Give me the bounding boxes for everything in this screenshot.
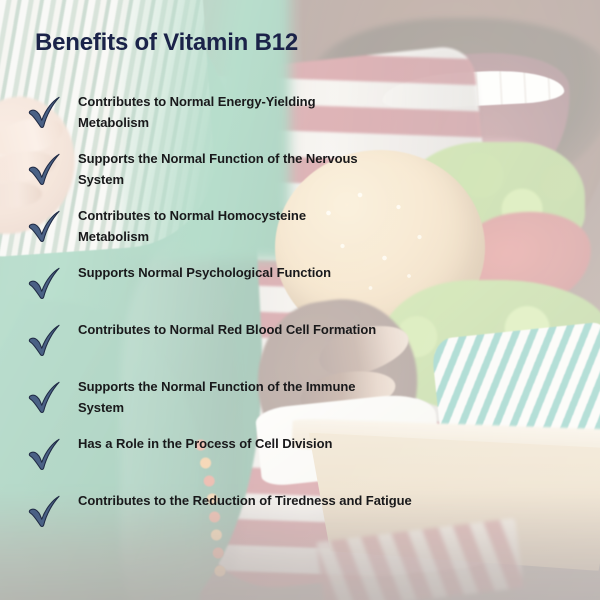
checkmark-icon [26,490,64,528]
checkmark-icon [26,433,64,471]
list-item: Supports Normal Psychological Function [26,257,580,314]
list-item-label: Contributes to the Reduction of Tirednes… [78,485,498,511]
poster-content: Benefits of Vitamin B12 Contributes to N… [0,0,600,600]
list-item: Contributes to Normal Energy-Yielding Me… [26,86,580,143]
checkmark-icon [26,205,64,243]
list-item: Supports the Normal Function of the Nerv… [26,143,580,200]
list-item-label: Supports Normal Psychological Function [78,257,498,283]
checkmark-icon [26,91,64,129]
page-title: Benefits of Vitamin B12 [35,29,298,57]
list-item-label: Contributes to Normal Red Blood Cell For… [78,314,378,340]
checkmark-icon [26,262,64,300]
list-item: Contributes to the Reduction of Tirednes… [26,485,580,542]
checkmark-icon [26,376,64,414]
list-item: Has a Role in the Process of Cell Divisi… [26,428,580,485]
list-item-label: Supports the Normal Function of the Immu… [78,371,378,418]
benefits-list: Contributes to Normal Energy-Yielding Me… [26,86,580,542]
list-item-label: Contributes to Normal Homocysteine Metab… [78,200,378,247]
list-item: Contributes to Normal Homocysteine Metab… [26,200,580,257]
list-item: Supports the Normal Function of the Immu… [26,371,580,428]
list-item: Contributes to Normal Red Blood Cell For… [26,314,580,371]
checkmark-icon [26,148,64,186]
vitamin-b12-benefits-poster: Benefits of Vitamin B12 Contributes to N… [0,0,600,600]
list-item-label: Has a Role in the Process of Cell Divisi… [78,428,498,454]
list-item-label: Supports the Normal Function of the Nerv… [78,143,378,190]
checkmark-icon [26,319,64,357]
list-item-label: Contributes to Normal Energy-Yielding Me… [78,86,378,133]
